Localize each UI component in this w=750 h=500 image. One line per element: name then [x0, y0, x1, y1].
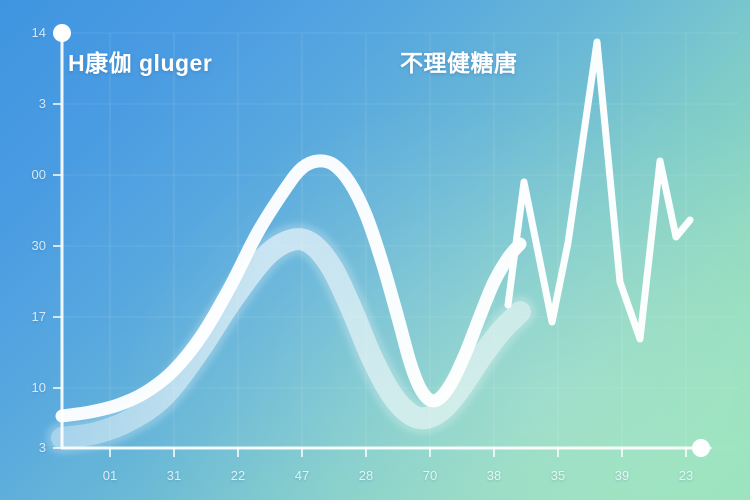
x-axis-end-dot	[692, 439, 710, 457]
x-axis-label-5: 70	[405, 468, 455, 483]
series-zigzag	[508, 42, 690, 339]
x-axis-label-7: 35	[533, 468, 583, 483]
page-title: H康伽 gluger	[68, 44, 212, 78]
x-axis-label-0: 01	[85, 468, 135, 483]
y-axis-label-5: 10	[8, 380, 46, 395]
y-axis-label-4: 17	[8, 309, 46, 324]
y-axis-label-0: 14	[8, 25, 46, 40]
y-axis-top-dot	[53, 24, 71, 42]
y-axis-label-2: 00	[8, 167, 46, 182]
x-axis-label-9: 23	[661, 468, 711, 483]
secondary-title: 不理健糖唐	[400, 44, 518, 78]
y-axis-label-6: 3	[8, 440, 46, 455]
series-inner-band	[62, 239, 520, 438]
x-axis-label-2: 22	[213, 468, 263, 483]
x-axis-label-3: 47	[277, 468, 327, 483]
y-axis-label-1: 3	[8, 96, 46, 111]
chart-canvas: H康伽 gluger 不理健糖唐 143003017103 0131224728…	[0, 0, 750, 500]
series-smooth-band	[62, 161, 520, 416]
x-axis-label-6: 38	[469, 468, 519, 483]
x-axis-label-1: 31	[149, 468, 199, 483]
y-axis-label-3: 30	[8, 238, 46, 253]
x-axis-label-8: 39	[597, 468, 647, 483]
series-lines	[62, 42, 690, 438]
x-axis-label-4: 28	[341, 468, 391, 483]
